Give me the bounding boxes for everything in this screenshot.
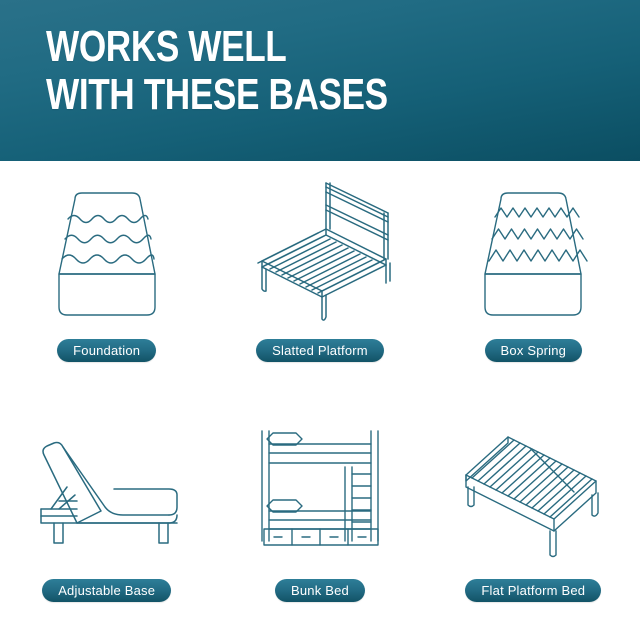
base-label-box-spring: Box Spring [485, 339, 583, 362]
base-label-adjustable-base: Adjustable Base [42, 579, 171, 602]
infographic-page: WORKS WELL WITH THESE BASES [0, 0, 640, 640]
base-label-flat-platform-bed: Flat Platform Bed [465, 579, 601, 602]
slatted-platform-bed-icon [227, 175, 413, 335]
box-spring-icon [440, 175, 626, 335]
base-card-box-spring[interactable]: Box Spring [427, 161, 640, 401]
base-card-adjustable-base[interactable]: Adjustable Base [0, 401, 213, 640]
base-label-slatted-platform: Slatted Platform [256, 339, 384, 362]
foundation-mattress-icon [14, 175, 200, 335]
bases-grid: Foundation [0, 161, 640, 640]
base-card-flat-platform-bed[interactable]: Flat Platform Bed [427, 401, 640, 640]
base-card-slatted-platform[interactable]: Slatted Platform [213, 161, 426, 401]
header-banner: WORKS WELL WITH THESE BASES [0, 0, 640, 161]
page-title: WORKS WELL WITH THESE BASES [46, 23, 388, 119]
flat-platform-bed-icon [440, 415, 626, 575]
base-label-foundation: Foundation [57, 339, 156, 362]
adjustable-base-icon [14, 415, 200, 575]
base-card-foundation[interactable]: Foundation [0, 161, 213, 401]
base-label-bunk-bed: Bunk Bed [275, 579, 365, 602]
bunk-bed-icon [227, 415, 413, 575]
base-card-bunk-bed[interactable]: Bunk Bed [213, 401, 426, 640]
